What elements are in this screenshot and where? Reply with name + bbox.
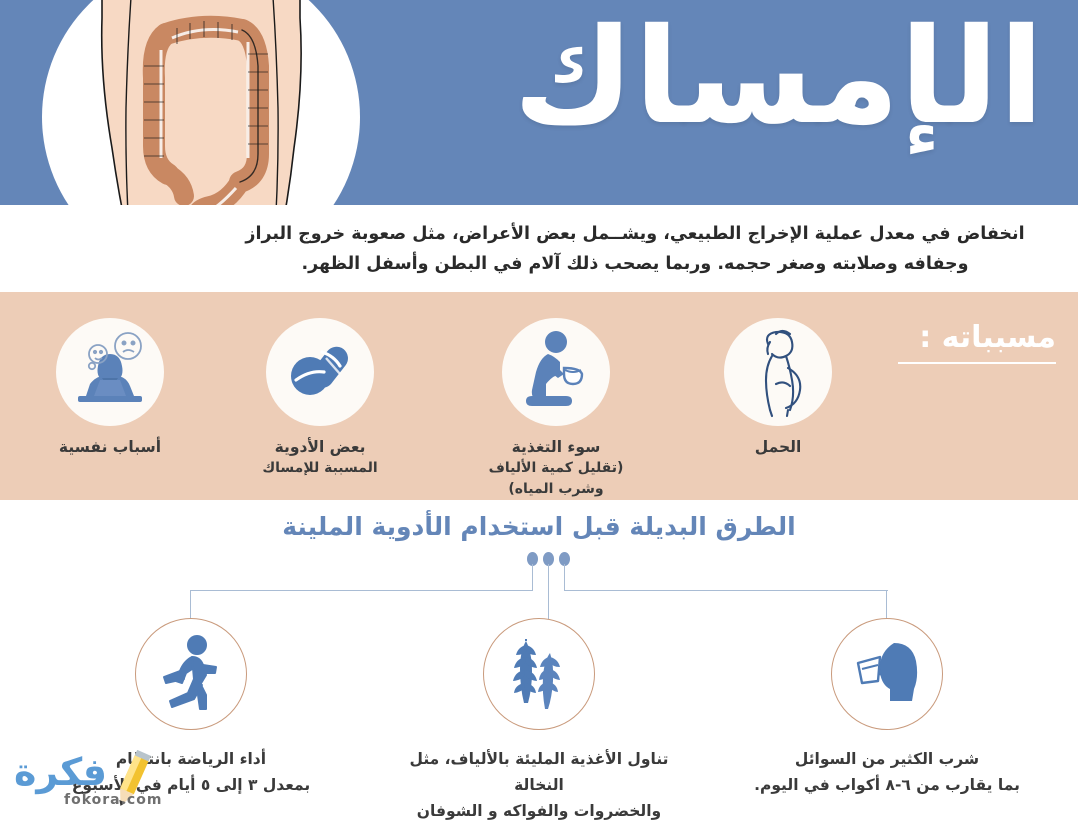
alt-label-line1: تناول الأغذية المليئة بالألياف، مثل النخ… — [389, 746, 689, 798]
connector-segment — [564, 564, 565, 590]
stressed-person-icon — [56, 318, 164, 426]
pills-capsule-icon — [266, 318, 374, 426]
infographic-poster: الإمساك انخفاض في معدل عملية الإخراج الط… — [0, 0, 1078, 823]
cause-item-malnutrition[interactable]: سوء التغذية (تقليل كمية الألياف وشرب الم… — [466, 318, 646, 500]
alt-label: تناول الأغذية المليئة بالألياف، مثل النخ… — [389, 746, 689, 823]
causes-heading: مسبباته : — [919, 320, 1056, 355]
watermark-domain: fokora.com — [64, 792, 162, 808]
cause-label: سوء التغذية — [466, 436, 646, 458]
connector-segment — [190, 590, 533, 591]
causes-section: مسبباته : الحمل — [0, 292, 1078, 500]
alt-label-line2: بما يقارب من ٦-٨ أكواب في اليوم. — [737, 772, 1037, 798]
cause-item-pregnancy[interactable]: الحمل — [688, 318, 868, 458]
watermark: فكرة fokora.com — [8, 748, 198, 818]
malnutrition-person-bowl-icon — [502, 318, 610, 426]
cause-sublabel: (تقليل كمية الألياف وشرب المياه) — [466, 458, 646, 500]
cause-label: بعض الأدوية — [230, 436, 410, 458]
cause-sublabel: المسببة للإمساك — [230, 458, 410, 479]
alt-label: شرب الكثير من السوائل بما يقارب من ٦-٨ أ… — [737, 746, 1037, 798]
pregnant-woman-icon — [724, 318, 832, 426]
cause-label: الحمل — [688, 436, 868, 458]
watermark-brand: فكرة — [14, 750, 107, 794]
cause-item-medications[interactable]: بعض الأدوية المسببة للإمساك — [230, 318, 410, 479]
cause-item-psychological[interactable]: أسباب نفسية — [20, 318, 200, 458]
intro-section: انخفاض في معدل عملية الإخراج الطبيعي، وي… — [0, 205, 1078, 292]
page-title: الإمساك — [513, 2, 1044, 152]
alt-item-fluids[interactable]: شرب الكثير من السوائل بما يقارب من ٦-٨ أ… — [737, 618, 1037, 798]
alt-label-line1: شرب الكثير من السوائل — [737, 746, 1037, 772]
head-drinking-water-icon — [831, 618, 943, 730]
alt-item-fiber[interactable]: تناول الأغذية المليئة بالألياف، مثل النخ… — [389, 618, 689, 823]
connector-segment — [564, 590, 888, 591]
connector-segment — [532, 564, 533, 590]
causes-heading-underline — [898, 362, 1056, 364]
cause-label: أسباب نفسية — [20, 436, 200, 458]
running-person-icon — [135, 618, 247, 730]
alt-label-line2: والخضروات والفواكه و الشوفان — [389, 798, 689, 823]
alternatives-heading: الطرق البديلة قبل استخدام الأدوية الملين… — [0, 512, 1078, 541]
header-banner: الإمساك — [0, 0, 1078, 205]
intro-paragraph: انخفاض في معدل عملية الإخراج الطبيعي، وي… — [220, 219, 1050, 279]
wheat-grain-icon — [483, 618, 595, 730]
